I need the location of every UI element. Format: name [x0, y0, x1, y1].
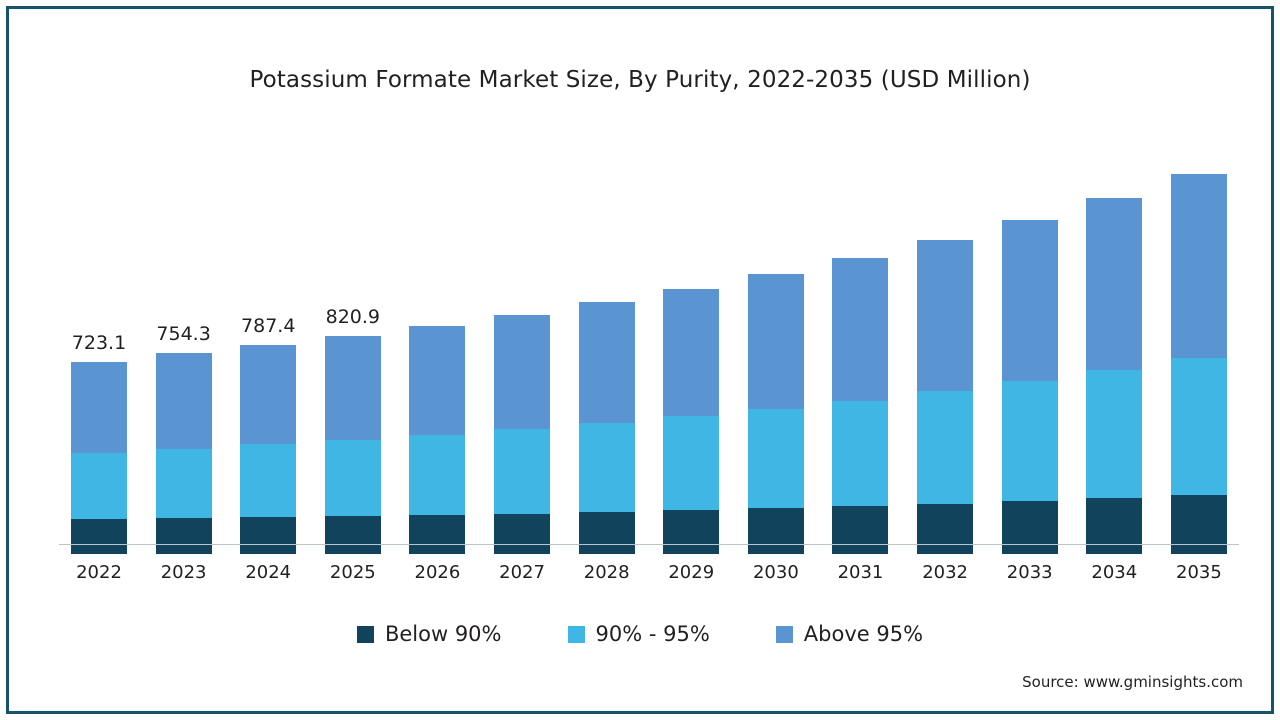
stacked-bar[interactable]	[325, 336, 381, 554]
bar-group[interactable]: 820.9	[325, 139, 381, 554]
x-axis-tick-label: 2024	[240, 562, 296, 583]
bar-segment[interactable]	[1086, 370, 1142, 498]
x-axis-tick-label: 2034	[1086, 562, 1142, 583]
legend-swatch-icon	[568, 626, 585, 643]
stacked-bar[interactable]	[240, 345, 296, 554]
bar-segment[interactable]	[325, 336, 381, 440]
x-axis-tick-label: 2028	[579, 562, 635, 583]
stacked-bar[interactable]	[1086, 198, 1142, 554]
legend-label: Below 90%	[385, 622, 502, 646]
legend-item[interactable]: 90% - 95%	[568, 622, 710, 646]
bar-segment[interactable]	[494, 514, 550, 554]
bar-group[interactable]	[1002, 139, 1058, 554]
bar-segment[interactable]	[1002, 501, 1058, 554]
stacked-bar[interactable]	[748, 274, 804, 554]
bar-group[interactable]: 787.4	[240, 139, 296, 554]
bar-group[interactable]: 723.1	[71, 139, 127, 554]
bar-segment[interactable]	[748, 508, 804, 554]
bar-segment[interactable]	[663, 510, 719, 554]
bar-segment[interactable]	[240, 345, 296, 445]
bar-segment[interactable]	[579, 302, 635, 423]
bar-segment[interactable]	[1002, 381, 1058, 501]
bar-group[interactable]	[832, 139, 888, 554]
x-axis-tick-label: 2026	[409, 562, 465, 583]
bar-segment[interactable]	[748, 274, 804, 409]
bar-segment[interactable]	[325, 516, 381, 554]
chart-legend: Below 90%90% - 95%Above 95%	[9, 622, 1271, 646]
bar-segment[interactable]	[156, 449, 212, 519]
bar-segment[interactable]	[240, 444, 296, 517]
x-axis-tick-labels: 2022202320242025202620272028202920302031…	[59, 562, 1239, 583]
bar-segment[interactable]	[156, 353, 212, 448]
stacked-bar[interactable]	[832, 258, 888, 554]
legend-item[interactable]: Above 95%	[776, 622, 923, 646]
bar-segment[interactable]	[71, 362, 127, 453]
bar-group[interactable]	[663, 139, 719, 554]
bar-segment[interactable]	[832, 258, 888, 401]
bar-series-container: 723.1754.3787.4820.9	[59, 139, 1239, 554]
bar-group[interactable]	[917, 139, 973, 554]
bar-group[interactable]	[1171, 139, 1227, 554]
bar-segment[interactable]	[917, 240, 973, 392]
legend-item[interactable]: Below 90%	[357, 622, 502, 646]
x-axis-tick-label: 2031	[832, 562, 888, 583]
stacked-bar[interactable]	[494, 315, 550, 554]
x-axis-line	[59, 544, 1239, 545]
bar-segment[interactable]	[1171, 174, 1227, 358]
bar-group[interactable]	[579, 139, 635, 554]
bar-group[interactable]	[409, 139, 465, 554]
bar-segment[interactable]	[832, 506, 888, 554]
legend-swatch-icon	[357, 626, 374, 643]
stacked-bar[interactable]	[409, 326, 465, 554]
stacked-bar[interactable]	[917, 240, 973, 554]
bar-segment[interactable]	[494, 315, 550, 430]
chart-frame: Potassium Formate Market Size, By Purity…	[6, 6, 1274, 714]
bar-segment[interactable]	[71, 453, 127, 520]
x-axis-tick-label: 2023	[156, 562, 212, 583]
stacked-bar[interactable]	[1171, 174, 1227, 554]
bar-segment[interactable]	[325, 440, 381, 516]
x-axis-tick-label: 2032	[917, 562, 973, 583]
bar-segment[interactable]	[917, 504, 973, 554]
x-axis-tick-label: 2025	[325, 562, 381, 583]
bar-segment[interactable]	[1002, 220, 1058, 381]
bar-value-label: 820.9	[293, 306, 413, 328]
chart-title: Potassium Formate Market Size, By Purity…	[9, 67, 1271, 93]
bar-segment[interactable]	[917, 391, 973, 504]
legend-label: Above 95%	[804, 622, 923, 646]
plot-area: 723.1754.3787.4820.9	[59, 129, 1239, 554]
bar-segment[interactable]	[240, 517, 296, 554]
bar-segment[interactable]	[71, 519, 127, 554]
stacked-bar[interactable]	[156, 353, 212, 554]
bar-segment[interactable]	[1086, 498, 1142, 554]
bar-segment[interactable]	[409, 326, 465, 435]
bar-segment[interactable]	[494, 429, 550, 513]
x-axis-tick-label: 2022	[71, 562, 127, 583]
stacked-bar[interactable]	[1002, 220, 1058, 554]
x-axis-tick-label: 2035	[1171, 562, 1227, 583]
stacked-bar[interactable]	[663, 289, 719, 554]
bar-segment[interactable]	[1086, 198, 1142, 370]
bar-segment[interactable]	[409, 515, 465, 554]
x-axis-tick-label: 2030	[748, 562, 804, 583]
bar-segment[interactable]	[748, 409, 804, 508]
bar-segment[interactable]	[579, 512, 635, 554]
x-axis-tick-label: 2029	[663, 562, 719, 583]
bar-group[interactable]	[748, 139, 804, 554]
bar-group[interactable]: 754.3	[156, 139, 212, 554]
bar-segment[interactable]	[832, 401, 888, 507]
bar-segment[interactable]	[156, 518, 212, 554]
stacked-bar[interactable]	[71, 362, 127, 554]
legend-swatch-icon	[776, 626, 793, 643]
bar-segment[interactable]	[409, 435, 465, 515]
bar-segment[interactable]	[1171, 495, 1227, 554]
source-note: Source: www.gminsights.com	[1022, 673, 1243, 691]
x-axis-tick-label: 2033	[1002, 562, 1058, 583]
bar-group[interactable]	[1086, 139, 1142, 554]
bar-segment[interactable]	[579, 423, 635, 512]
stacked-bar[interactable]	[579, 302, 635, 554]
bar-group[interactable]	[494, 139, 550, 554]
bar-segment[interactable]	[1171, 358, 1227, 495]
bar-segment[interactable]	[663, 289, 719, 416]
legend-label: 90% - 95%	[596, 622, 710, 646]
x-axis-tick-label: 2027	[494, 562, 550, 583]
bar-segment[interactable]	[663, 416, 719, 510]
